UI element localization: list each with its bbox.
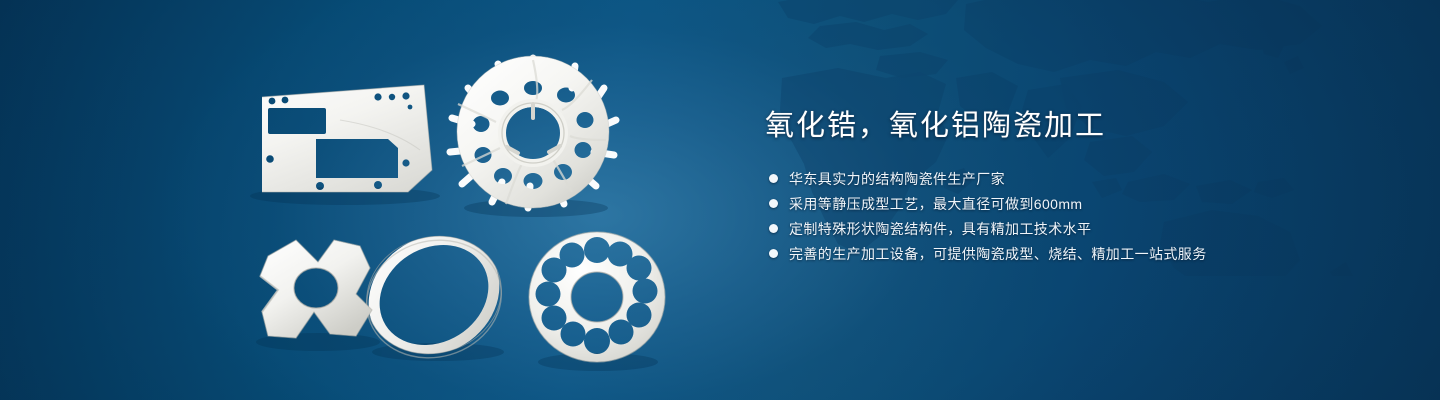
promo-banner: 氧化锆，氧化铝陶瓷加工 华东具实力的结构陶瓷件生产厂家 采用等静压成型工艺，最大… bbox=[0, 0, 1440, 400]
ceramic-perforated-disc bbox=[529, 232, 665, 362]
list-item: 完善的生产加工设备，可提供陶瓷成型、烧结、精加工一站式服务 bbox=[769, 241, 1385, 266]
list-item: 采用等静压成型工艺，最大直径可做到600mm bbox=[769, 191, 1385, 216]
list-item-label: 完善的生产加工设备，可提供陶瓷成型、烧结、精加工一站式服务 bbox=[789, 244, 1207, 264]
feature-list: 华东具实力的结构陶瓷件生产厂家 采用等静压成型工艺，最大直径可做到600mm 定… bbox=[769, 166, 1385, 266]
banner-text-block: 氧化锆，氧化铝陶瓷加工 华东具实力的结构陶瓷件生产厂家 采用等静压成型工艺，最大… bbox=[765, 108, 1385, 266]
list-item-label: 华东具实力的结构陶瓷件生产厂家 bbox=[789, 169, 1005, 189]
page-title: 氧化锆，氧化铝陶瓷加工 bbox=[765, 108, 1385, 144]
ceramic-mounting-plate bbox=[240, 70, 460, 210]
ceramic-impeller-rotor bbox=[450, 56, 616, 208]
dot-icon bbox=[769, 249, 778, 258]
ceramic-cross-blade bbox=[260, 240, 372, 338]
dot-icon bbox=[769, 174, 778, 183]
product-photo-group bbox=[0, 0, 740, 400]
list-item: 华东具实力的结构陶瓷件生产厂家 bbox=[769, 166, 1385, 191]
list-item: 定制特殊形状陶瓷结构件，具有精加工技术水平 bbox=[769, 216, 1385, 241]
list-item-label: 定制特殊形状陶瓷结构件，具有精加工技术水平 bbox=[789, 219, 1091, 239]
dot-icon bbox=[769, 199, 778, 208]
dot-icon bbox=[769, 224, 778, 233]
list-item-label: 采用等静压成型工艺，最大直径可做到600mm bbox=[789, 194, 1082, 214]
